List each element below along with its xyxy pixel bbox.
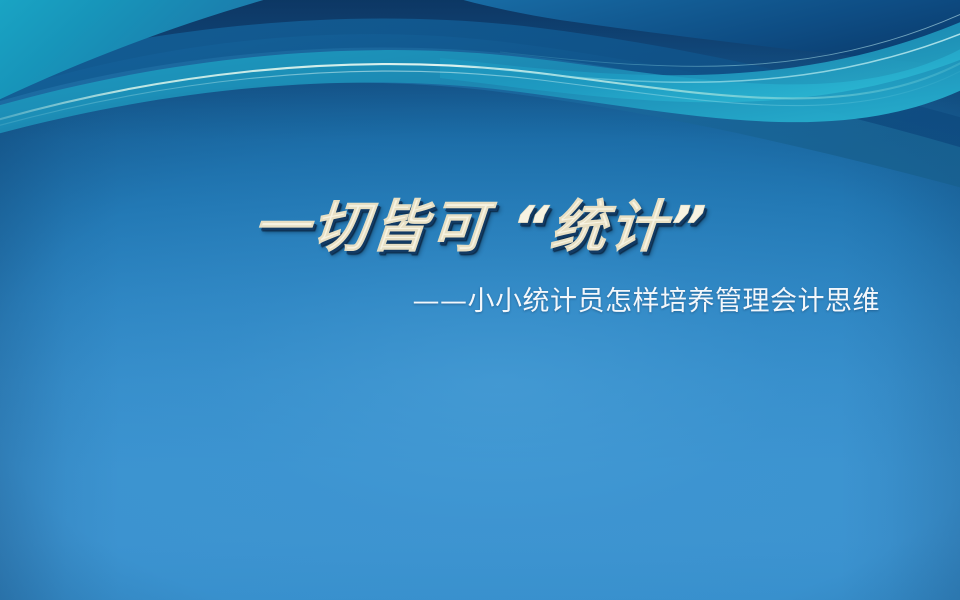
title-slide: 一切皆可 “统计” ——小小统计员怎样培养管理会计思维 (0, 0, 960, 600)
decorative-wave-graphic (0, 0, 960, 220)
